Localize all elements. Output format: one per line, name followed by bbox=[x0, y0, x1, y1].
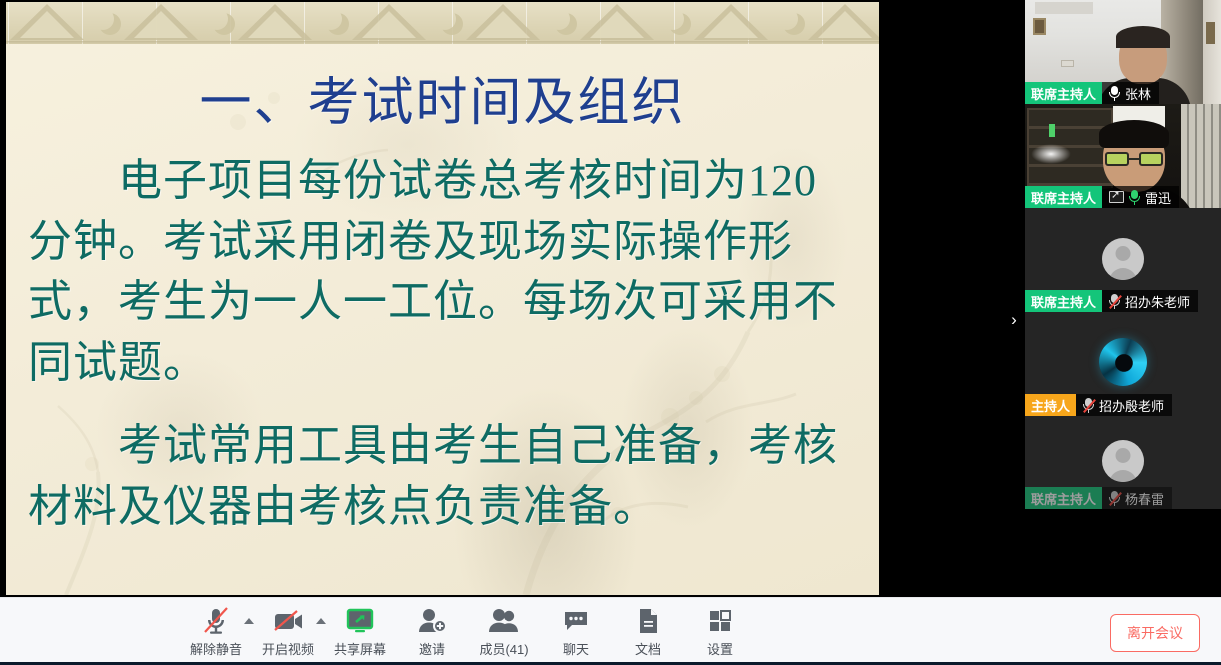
mic-muted-icon bbox=[1109, 491, 1120, 506]
unmute-button[interactable]: 解除静音 bbox=[180, 604, 252, 658]
mic-muted-icon bbox=[1083, 398, 1094, 413]
avatar bbox=[1102, 440, 1144, 482]
shared-screen-stage: 一、考试时间及组织 电子项目每份试卷总考核时间为120分钟。考试采用闭卷及现场实… bbox=[0, 0, 881, 597]
avatar bbox=[1102, 238, 1144, 280]
participant-label-bar: 联席主持人 杨春雷 bbox=[1025, 487, 1172, 509]
participant-label-bar: 联席主持人 张林 bbox=[1025, 82, 1159, 104]
leave-meeting-button[interactable]: 离开会议 bbox=[1110, 614, 1200, 652]
slide-border-ornament bbox=[6, 2, 879, 44]
screen-share-icon bbox=[1109, 191, 1124, 203]
invite-icon bbox=[417, 604, 447, 638]
slide-paragraph-1: 电子项目每份试卷总考核时间为120分钟。考试采用闭卷及现场实际操作形式，考生为一… bbox=[28, 151, 857, 394]
role-badge: 联席主持人 bbox=[1025, 290, 1102, 312]
video-off-icon bbox=[272, 604, 304, 638]
tool-label: 共享屏幕 bbox=[334, 639, 386, 658]
mic-on-icon bbox=[1109, 86, 1120, 101]
tool-label: 解除静音 bbox=[190, 639, 242, 658]
participants-icon bbox=[488, 604, 520, 638]
settings-icon bbox=[706, 604, 734, 638]
participant-name: 招办殷老师 bbox=[1099, 396, 1164, 415]
participant-tile[interactable]: 联席主持人 杨春雷 bbox=[1025, 416, 1221, 509]
document-button[interactable]: 文档 bbox=[612, 604, 684, 658]
participant-name: 雷迅 bbox=[1145, 188, 1171, 207]
participant-tile[interactable]: 联席主持人 雷迅 bbox=[1025, 104, 1221, 208]
participant-label-bar: 联席主持人 招办朱老师 bbox=[1025, 290, 1198, 312]
role-badge: 联席主持人 bbox=[1025, 487, 1102, 509]
tool-label: 设置 bbox=[707, 639, 733, 658]
meeting-window: 一、考试时间及组织 电子项目每份试卷总考核时间为120分钟。考试采用闭卷及现场实… bbox=[0, 0, 1221, 665]
participants-button[interactable]: 成员(41) bbox=[468, 604, 540, 658]
chevron-right-icon[interactable]: › bbox=[1003, 300, 1025, 340]
slide-body: 电子项目每份试卷总考核时间为120分钟。考试采用闭卷及现场实际操作形式，考生为一… bbox=[28, 151, 857, 537]
presentation-slide: 一、考试时间及组织 电子项目每份试卷总考核时间为120分钟。考试采用闭卷及现场实… bbox=[6, 2, 879, 595]
participant-name: 张林 bbox=[1125, 84, 1151, 103]
invite-button[interactable]: 邀请 bbox=[396, 604, 468, 658]
role-badge: 联席主持人 bbox=[1025, 82, 1102, 104]
mic-muted-icon bbox=[202, 604, 230, 638]
participant-label-bar: 联席主持人 雷迅 bbox=[1025, 186, 1179, 208]
mic-active-icon bbox=[1129, 190, 1140, 205]
tool-label: 聊天 bbox=[563, 639, 589, 658]
tool-label: 开启视频 bbox=[262, 639, 314, 658]
participant-name: 招办朱老师 bbox=[1125, 292, 1190, 311]
slide-content: 一、考试时间及组织 电子项目每份试卷总考核时间为120分钟。考试采用闭卷及现场实… bbox=[6, 44, 879, 595]
participant-filmstrip[interactable]: 联席主持人 张林 联席主持人 bbox=[1025, 0, 1221, 597]
avatar bbox=[1099, 338, 1147, 386]
share-screen-button[interactable]: 共享屏幕 bbox=[324, 604, 396, 658]
start-video-button[interactable]: 开启视频 bbox=[252, 604, 324, 658]
tool-label: 文档 bbox=[635, 639, 661, 658]
participant-tile[interactable]: 主持人 招办殷老师 bbox=[1025, 312, 1221, 416]
chat-icon bbox=[561, 604, 591, 638]
meeting-toolbar: 解除静音 开启视频 bbox=[0, 597, 1221, 665]
document-icon bbox=[635, 604, 661, 638]
settings-button[interactable]: 设置 bbox=[684, 604, 756, 658]
tool-label: 成员(41) bbox=[479, 639, 528, 658]
participant-label-bar: 主持人 招办殷老师 bbox=[1025, 394, 1172, 416]
chat-button[interactable]: 聊天 bbox=[540, 604, 612, 658]
tool-label: 邀请 bbox=[419, 639, 445, 658]
mic-muted-icon bbox=[1109, 294, 1120, 309]
role-badge: 联席主持人 bbox=[1025, 186, 1102, 208]
slide-paragraph-2: 考试常用工具由考生自己准备，考核材料及仪器由考核点负责准备。 bbox=[28, 416, 857, 537]
participant-tile[interactable]: 联席主持人 张林 bbox=[1025, 0, 1221, 104]
share-screen-icon bbox=[344, 604, 376, 638]
role-badge: 主持人 bbox=[1025, 394, 1076, 416]
slide-title: 一、考试时间及组织 bbox=[6, 60, 879, 135]
participant-name: 杨春雷 bbox=[1125, 489, 1164, 508]
participant-tile[interactable]: 联席主持人 招办朱老师 bbox=[1025, 208, 1221, 312]
